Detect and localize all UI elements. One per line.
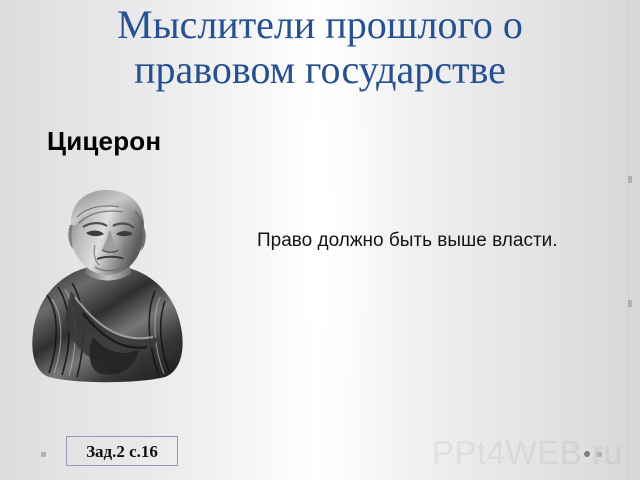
subject-name-heading: Цицерон [47, 126, 161, 157]
watermark: PPt4WEBru [432, 434, 623, 472]
slide-canvas: Мыслители прошлого о правовом государств… [0, 0, 640, 480]
watermark-text-after-dot: ru [592, 434, 622, 471]
page-title: Мыслители прошлого о правовом государств… [0, 2, 640, 92]
page-title-line-1: Мыслители прошлого о [0, 2, 640, 47]
watermark-text-before-dot: PPt4WEB [432, 434, 582, 471]
watermark-dot-icon [584, 451, 590, 457]
edge-tick-lower [628, 300, 632, 307]
page-title-line-2: правовом государстве [0, 47, 640, 92]
bust-of-cicero-image [27, 187, 187, 387]
quote-text: Право должно быть выше власти. [257, 228, 611, 254]
decorative-dot-left [41, 452, 46, 457]
task-reference-box: Зад.2 с.16 [66, 436, 178, 466]
edge-tick-upper [628, 176, 632, 183]
task-reference-label: Зад.2 с.16 [86, 443, 158, 460]
